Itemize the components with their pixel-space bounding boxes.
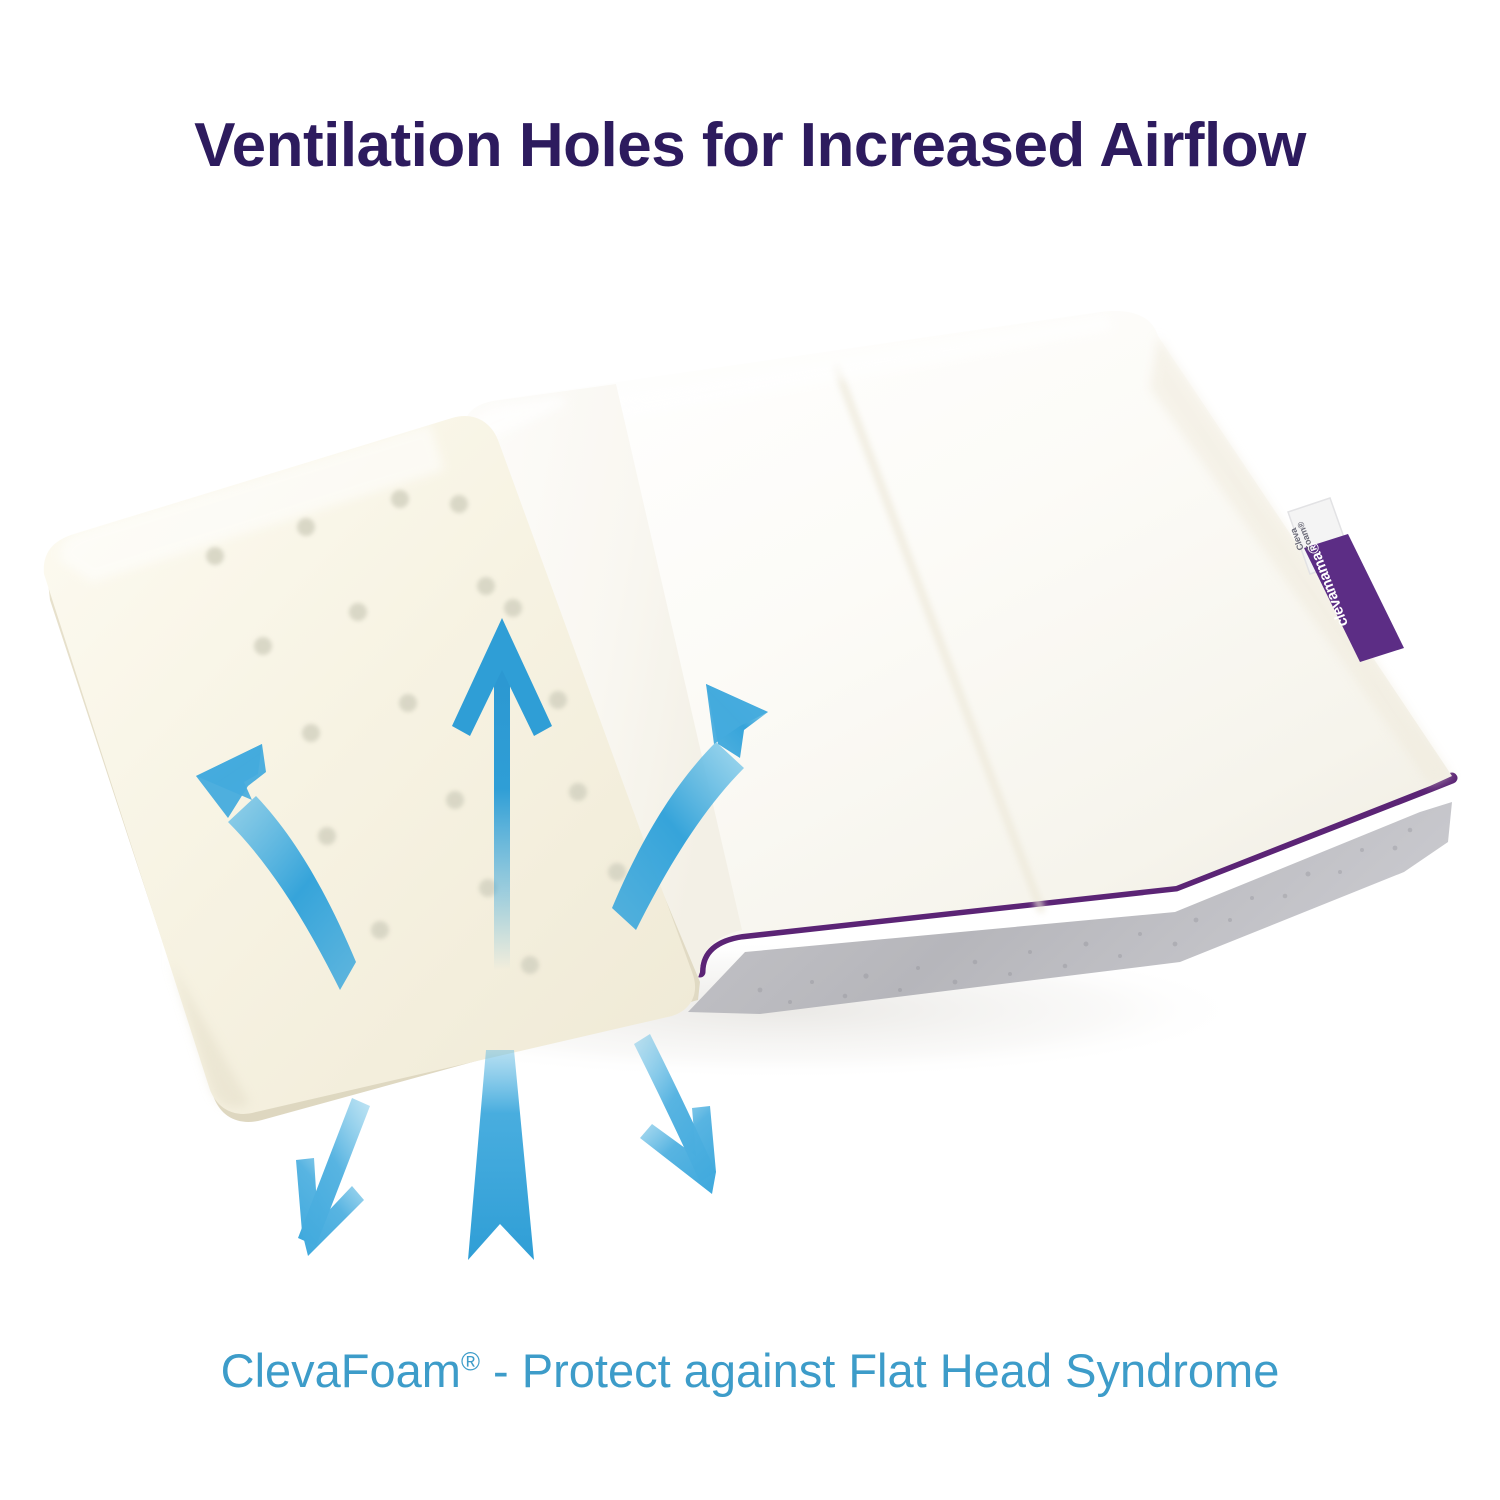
registered-trademark-icon: ® <box>461 1348 480 1376</box>
arrow-down-center <box>468 1050 534 1260</box>
product-feature-image: Ventilation Holes for Increased Airflow <box>0 0 1500 1500</box>
tagline-rest: - Protect against Flat Head Syndrome <box>480 1344 1279 1397</box>
product-tagline: ClevaFoam® - Protect against Flat Head S… <box>0 1344 1500 1398</box>
product-photo <box>0 0 1500 1500</box>
brand-name: ClevaFoam <box>221 1344 461 1397</box>
arrow-down-left <box>296 1098 370 1256</box>
